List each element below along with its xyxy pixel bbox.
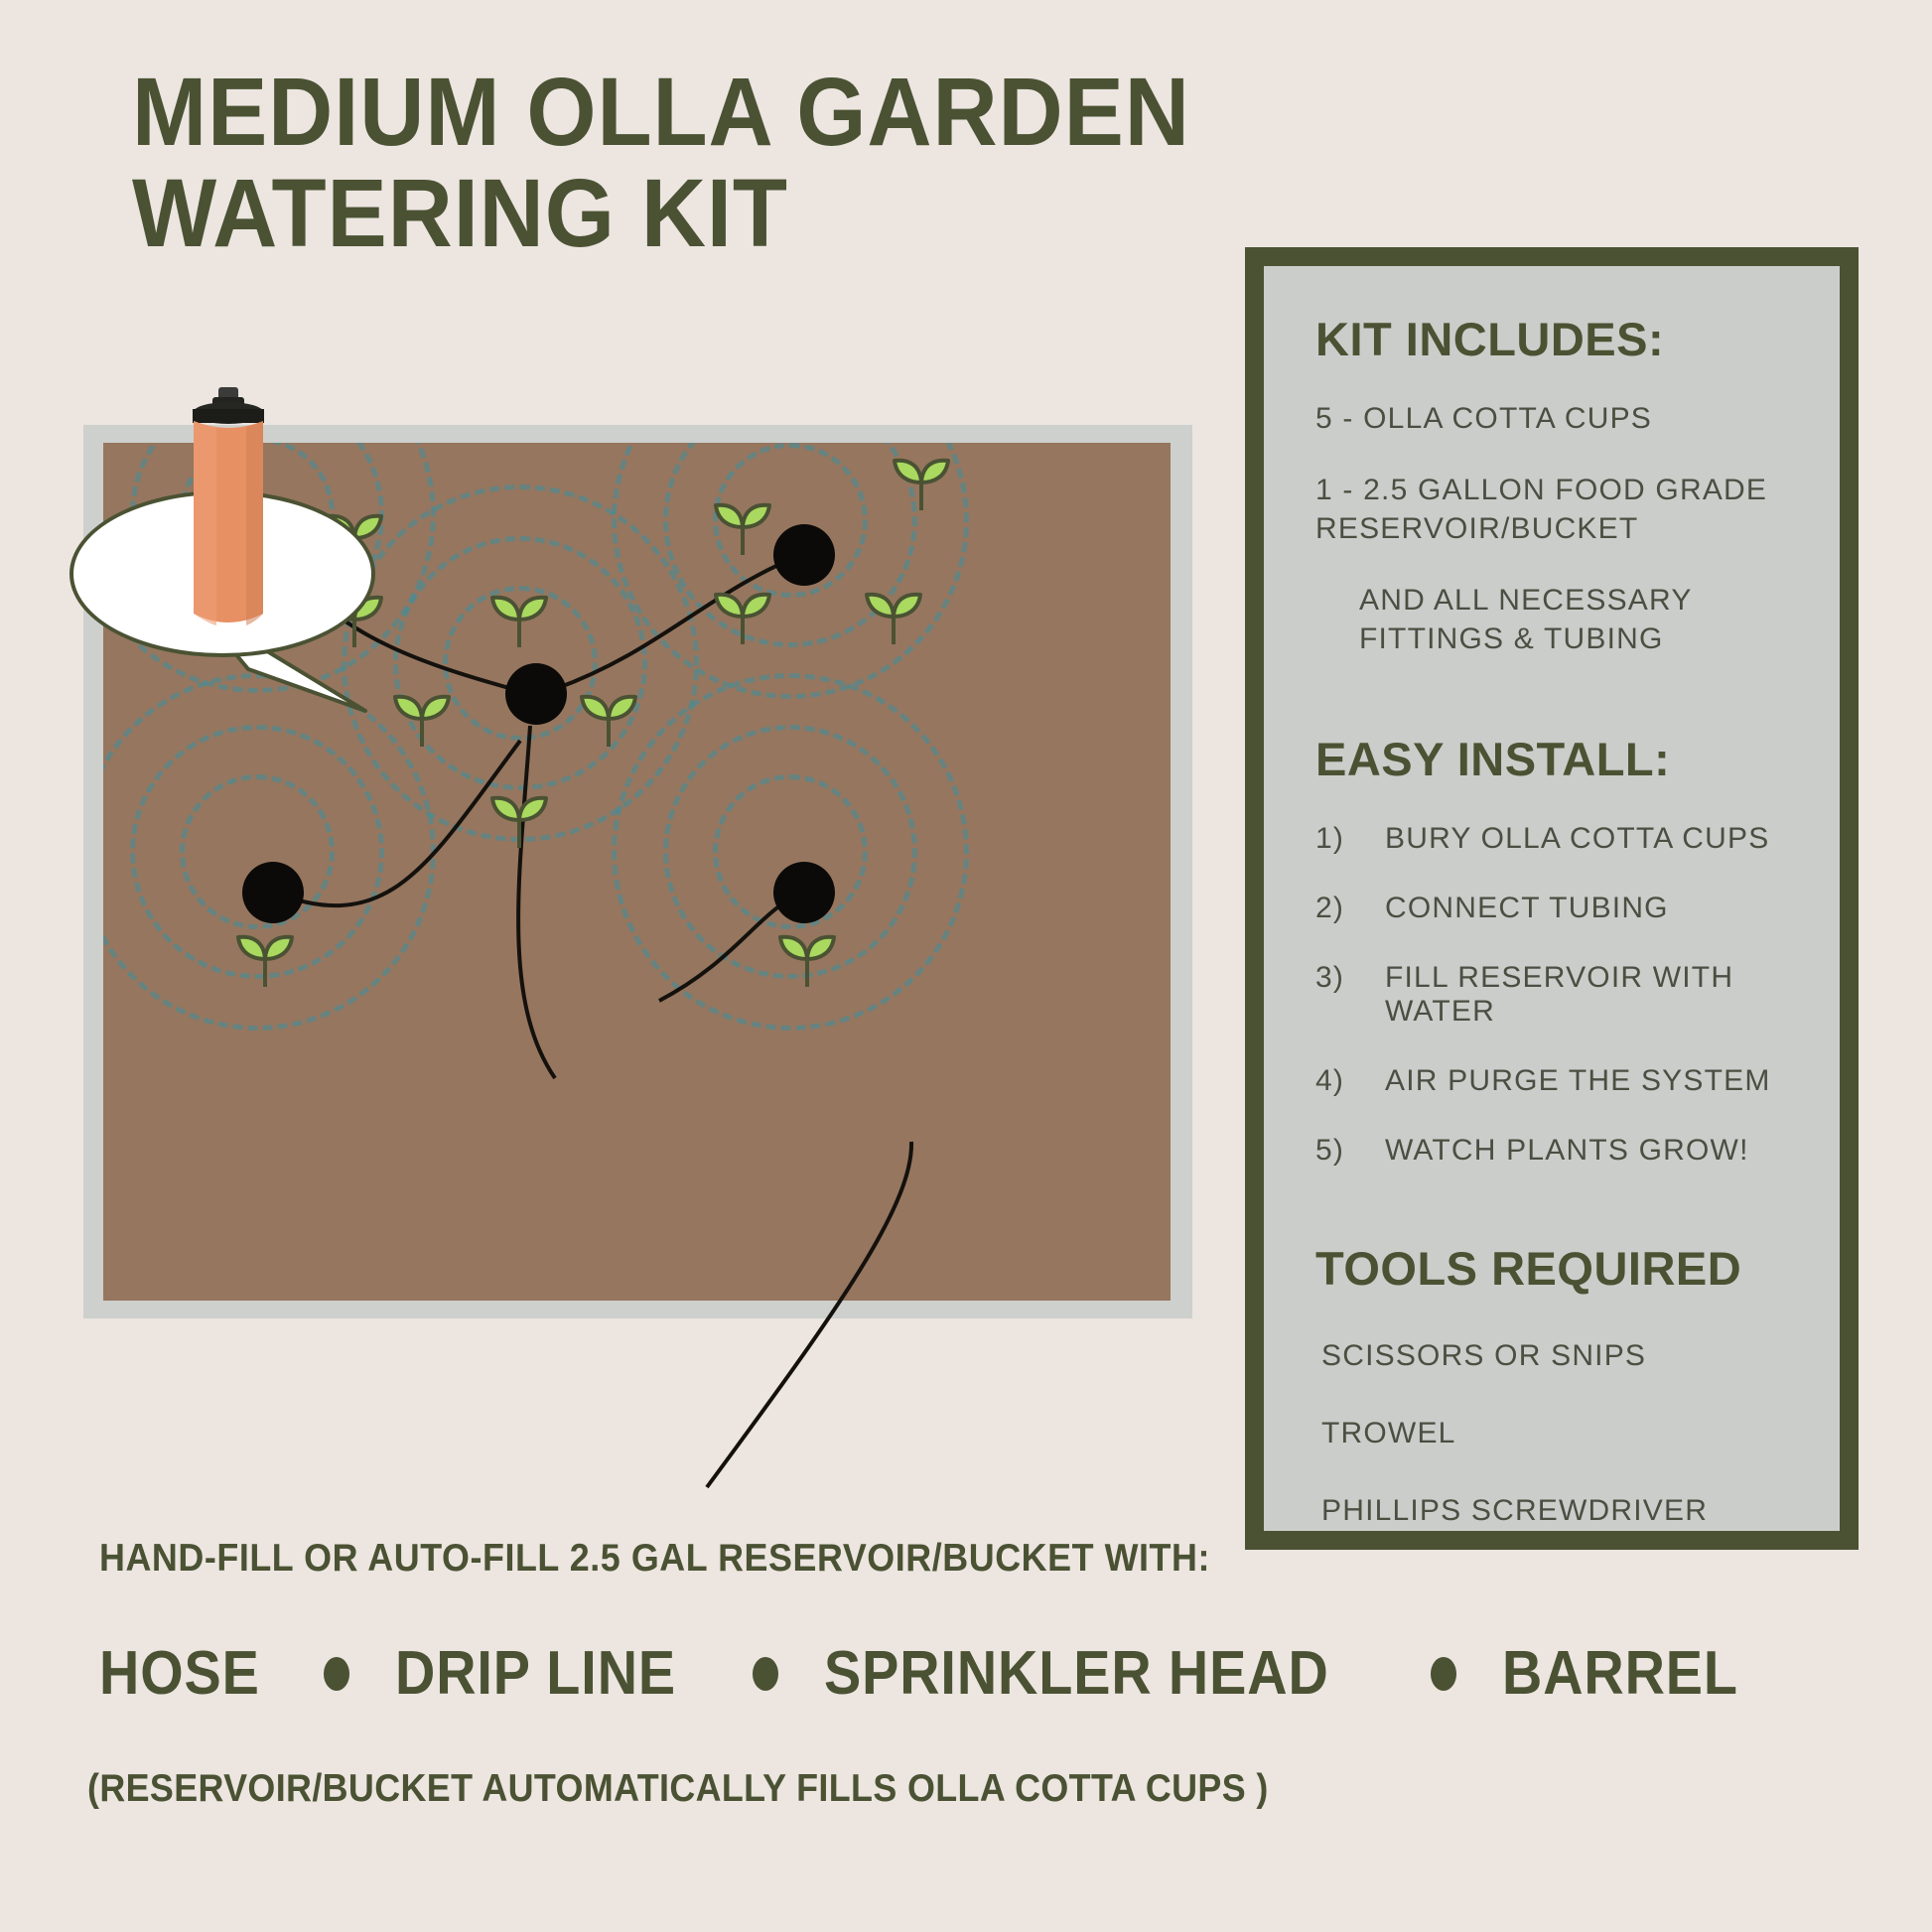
tool-item: SCISSORS OR SNIPS	[1315, 1339, 1810, 1373]
plant-sprout-icon	[891, 453, 952, 510]
bullet-separator-icon	[324, 1657, 349, 1691]
easy-install-heading: EASY INSTALL:	[1315, 732, 1810, 786]
fill-source-barrel: BARREL	[1502, 1638, 1738, 1709]
step-label: AIR PURGE THE SYSTEM	[1385, 1064, 1771, 1098]
buried-olla-marker[interactable]	[505, 663, 567, 725]
page-title: MEDIUM OLLA GARDEN WATERING KIT	[132, 62, 1240, 264]
tools-required-heading: TOOLS REQUIRED	[1315, 1241, 1810, 1296]
install-step: 1) BURY OLLA COTTA CUPS	[1315, 822, 1810, 856]
buried-olla-marker[interactable]	[242, 862, 304, 923]
step-label: CONNECT TUBING	[1385, 892, 1669, 925]
step-number: 3)	[1315, 961, 1359, 995]
tool-item: PHILLIPS SCREWDRIVER	[1315, 1494, 1810, 1528]
olla-cotta-cup-icon	[187, 387, 270, 635]
install-step: 3) FILL RESERVOIR WITH WATER	[1315, 961, 1810, 1029]
step-label: FILL RESERVOIR WITH WATER	[1385, 961, 1810, 1029]
olla-cup-callout	[69, 481, 397, 709]
install-step: 5) WATCH PLANTS GROW!	[1315, 1134, 1810, 1168]
step-number: 1)	[1315, 822, 1359, 856]
supply-tube	[616, 1142, 953, 1539]
fill-source-sprinkler-head: SPRINKLER HEAD	[824, 1638, 1329, 1709]
plant-sprout-icon	[578, 689, 639, 747]
kit-item: AND ALL NECESSARY FITTINGS & TUBING	[1315, 582, 1810, 658]
step-number: 5)	[1315, 1134, 1359, 1168]
infographic-canvas: MEDIUM OLLA GARDEN WATERING KIT	[0, 0, 1932, 1932]
plant-sprout-icon	[488, 590, 550, 647]
install-step: 4) AIR PURGE THE SYSTEM	[1315, 1064, 1810, 1098]
plant-sprout-icon	[776, 929, 838, 987]
kit-includes-heading: KIT INCLUDES:	[1315, 312, 1810, 366]
buried-olla-marker[interactable]	[773, 524, 835, 586]
bullet-separator-icon	[753, 1657, 778, 1691]
plant-sprout-icon	[391, 689, 453, 747]
step-number: 2)	[1315, 892, 1359, 925]
bullet-separator-icon	[1431, 1657, 1456, 1691]
kit-item: 1 - 2.5 GALLON FOOD GRADE RESERVOIR/BUCK…	[1315, 472, 1810, 548]
step-label: WATCH PLANTS GROW!	[1385, 1134, 1749, 1168]
info-panel: KIT INCLUDES: 5 - OLLA COTTA CUPS 1 - 2.…	[1245, 247, 1859, 1550]
plant-sprout-icon	[488, 790, 550, 848]
fill-source-hose: HOSE	[99, 1638, 260, 1709]
auto-fill-note: (RESERVOIR/BUCKET AUTOMATICALLY FILLS OL…	[87, 1767, 1269, 1811]
buried-olla-marker[interactable]	[773, 862, 835, 923]
fill-instruction: HAND-FILL OR AUTO-FILL 2.5 GAL RESERVOIR…	[99, 1537, 1210, 1581]
step-label: BURY OLLA COTTA CUPS	[1385, 822, 1769, 856]
tool-item: TROWEL	[1315, 1417, 1810, 1450]
kit-item: 5 - OLLA COTTA CUPS	[1315, 400, 1810, 438]
plant-sprout-icon	[863, 587, 924, 644]
plant-sprout-icon	[712, 497, 773, 555]
fill-source-row: HOSE DRIP LINE SPRINKLER HEAD BARREL	[99, 1638, 1847, 1709]
plant-sprout-icon	[234, 929, 296, 987]
install-step: 2) CONNECT TUBING	[1315, 892, 1810, 925]
fill-source-drip-line: DRIP LINE	[395, 1638, 676, 1709]
step-number: 4)	[1315, 1064, 1359, 1098]
plant-sprout-icon	[712, 587, 773, 644]
